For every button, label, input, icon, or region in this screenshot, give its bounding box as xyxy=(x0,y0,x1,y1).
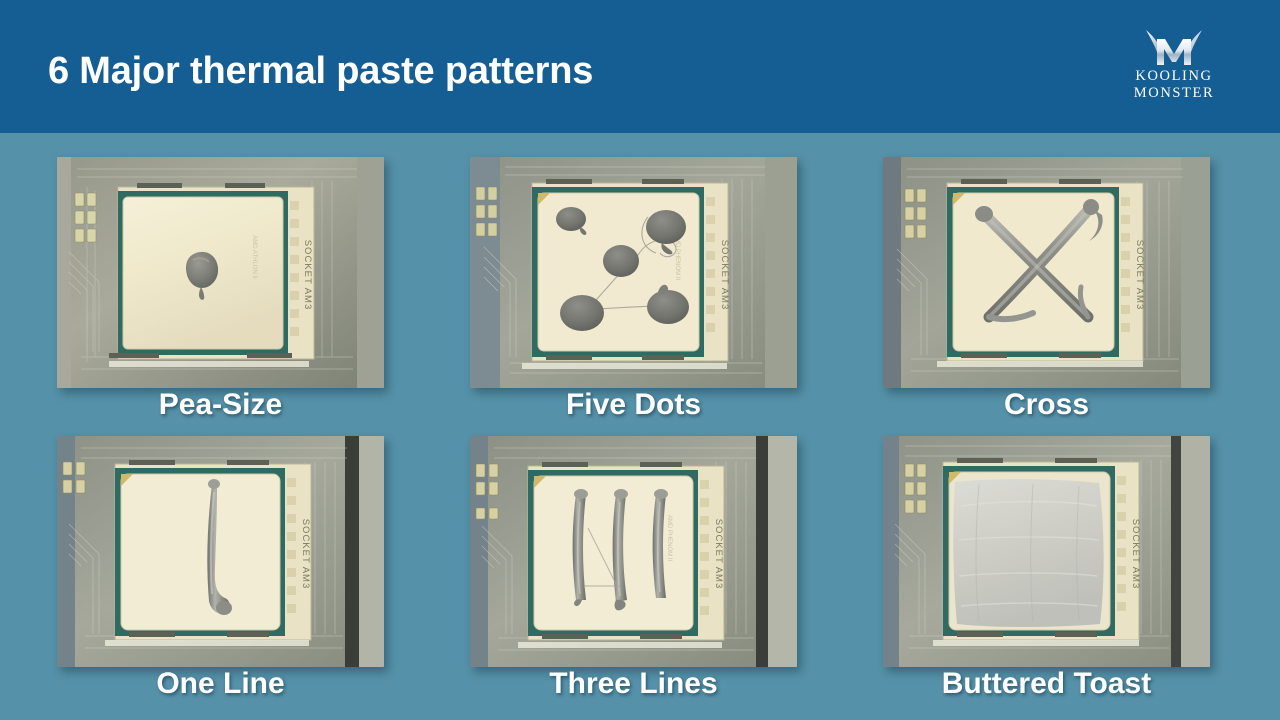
socket-text: SOCKET AM3 xyxy=(719,240,730,311)
pattern-cell-pea-size: SOCKET AM3 AMD ATHLON II Pea-Size xyxy=(14,144,427,427)
cpu-socket-am3-five-dots-photo: SOCKET AM3 AMD PHENOM II xyxy=(470,157,797,388)
cpu-socket-am3-buttered-toast-photo: SOCKET AM3 xyxy=(883,436,1210,667)
paste-pattern-buttered-toast xyxy=(953,479,1103,627)
cpu-socket-am3-one-line-photo: SOCKET AM3 xyxy=(57,436,384,667)
pattern-label-five-dots: Five Dots xyxy=(427,388,840,422)
pattern-cell-one-line: SOCKET AM3 One Line xyxy=(14,423,427,706)
pattern-cell-cross: SOCKET AM3 Cr xyxy=(840,144,1253,427)
socket-text: SOCKET AM3 xyxy=(302,240,313,311)
socket-text: SOCKET AM3 xyxy=(1134,240,1145,311)
horned-m-monster-icon xyxy=(1143,26,1205,68)
socket-text: SOCKET AM3 xyxy=(300,519,311,590)
brand-logo: KOOLING MONSTER xyxy=(1108,26,1240,110)
header-bar: 6 Major thermal paste patterns xyxy=(0,0,1280,133)
svg-text:AMD PHENOM II: AMD PHENOM II xyxy=(666,515,672,562)
cpu-socket-am3-pea-size-photo: SOCKET AM3 AMD ATHLON II xyxy=(57,157,384,388)
pattern-grid: SOCKET AM3 AMD ATHLON II Pea-Size xyxy=(0,133,1280,720)
svg-text:AMD ATHLON II: AMD ATHLON II xyxy=(251,235,257,279)
pattern-cell-buttered-toast: SOCKET AM3 xyxy=(840,423,1253,706)
socket-text: SOCKET AM3 xyxy=(1130,519,1141,590)
logo-word-monster: MONSTER xyxy=(1134,85,1215,102)
pattern-cell-three-lines: SOCKET AM3 AMD PHENOM II xyxy=(427,423,840,706)
pattern-label-one-line: One Line xyxy=(14,667,427,701)
cpu-socket-am3-three-lines-photo: SOCKET AM3 AMD PHENOM II xyxy=(470,436,797,667)
pattern-label-three-lines: Three Lines xyxy=(427,667,840,701)
pattern-cell-five-dots: SOCKET AM3 AMD PHENOM II xyxy=(427,144,840,427)
pattern-label-buttered-toast: Buttered Toast xyxy=(840,667,1253,701)
logo-word-kooling: KOOLING xyxy=(1135,68,1212,85)
pattern-label-cross: Cross xyxy=(840,388,1253,422)
pattern-label-pea-size: Pea-Size xyxy=(14,388,427,422)
cpu-socket-am3-cross-photo: SOCKET AM3 xyxy=(883,157,1210,388)
page-title: 6 Major thermal paste patterns xyxy=(48,50,593,93)
socket-text: SOCKET AM3 xyxy=(713,519,724,590)
